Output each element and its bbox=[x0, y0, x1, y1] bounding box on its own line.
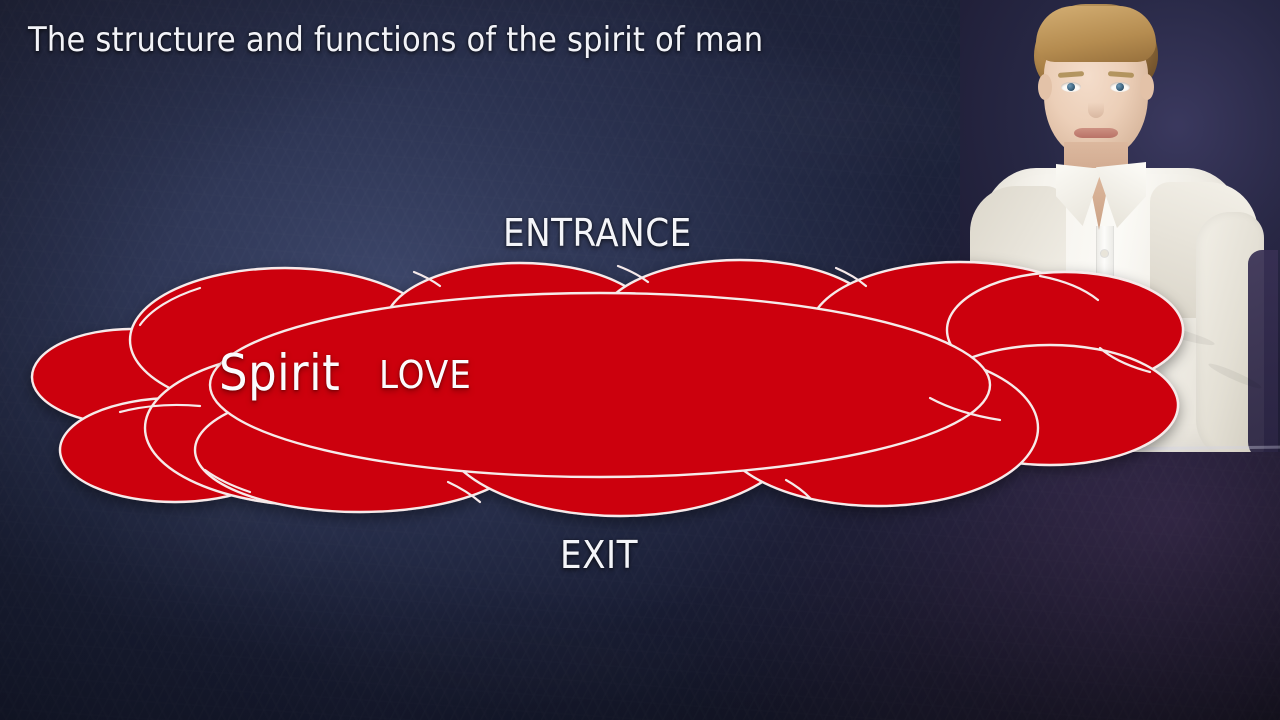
love-text: LOVE bbox=[379, 353, 472, 397]
presenter-shirt-button bbox=[1101, 352, 1108, 359]
presenter-shoulder-left-icon bbox=[970, 186, 1066, 306]
presenter-nose-icon bbox=[1088, 92, 1104, 118]
exit-label: EXIT bbox=[560, 533, 638, 577]
presenter-shirt-button bbox=[1101, 404, 1108, 411]
presenter-arm-gap bbox=[1248, 250, 1278, 452]
presenter-ear-left-icon bbox=[1038, 74, 1052, 100]
presenter-mouth-icon bbox=[1074, 128, 1118, 138]
presenter-shirt-placket bbox=[1096, 226, 1114, 452]
presenter-shirt-button bbox=[1101, 250, 1108, 257]
presenter-ear-right-icon bbox=[1140, 74, 1154, 100]
presenter-photo bbox=[960, 0, 1280, 452]
presenter-shirt-button bbox=[1101, 300, 1108, 307]
slide-canvas: The structure and functions of the spiri… bbox=[0, 0, 1280, 720]
page-title: The structure and functions of the spiri… bbox=[28, 20, 763, 60]
presenter-pupil-left-icon bbox=[1067, 83, 1075, 91]
spirit-text: Spirit bbox=[219, 344, 340, 402]
entrance-label: ENTRANCE bbox=[503, 211, 692, 255]
presenter-pupil-right-icon bbox=[1116, 83, 1124, 91]
presenter-fringe-icon bbox=[1036, 6, 1156, 62]
